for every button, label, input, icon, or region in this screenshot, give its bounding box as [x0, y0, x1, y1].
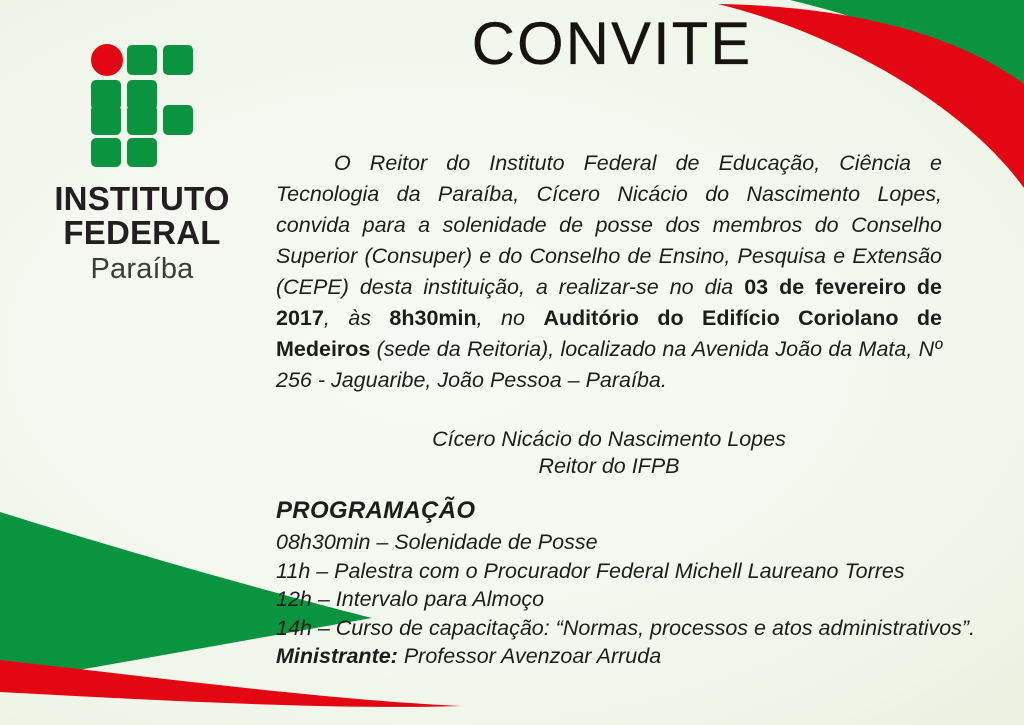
signature-name: Cícero Nicácio do Nascimento Lopes	[276, 426, 942, 453]
logo-red-circle-icon	[91, 44, 123, 76]
programme-item: 14h – Curso de capacitação: “Normas, pro…	[276, 614, 966, 643]
ifpb-logo: INSTITUTO FEDERAL Paraíba	[26, 44, 258, 286]
ifpb-logo-mark-icon	[90, 44, 194, 168]
logo-wordmark: INSTITUTO FEDERAL	[26, 182, 258, 249]
invitation-paragraph: O Reitor do Instituto Federal de Educaçã…	[276, 148, 942, 396]
programme-list: 08h30min – Solenidade de Posse11h – Pale…	[276, 528, 966, 671]
logo-word-federal: FEDERAL	[26, 216, 258, 250]
logo-subtitle-paraiba: Paraíba	[26, 253, 258, 286]
invitation-body: O Reitor do Instituto Federal de Educaçã…	[276, 148, 942, 480]
programme-item: 12h – Intervalo para Almoço	[276, 585, 966, 614]
signature-role: Reitor do IFPB	[276, 453, 942, 480]
logo-word-instituto: INSTITUTO	[26, 182, 258, 216]
invitation-page: INSTITUTO FEDERAL Paraíba CONVITE O Reit…	[0, 0, 1024, 725]
page-title: CONVITE	[262, 14, 962, 74]
programme-section: PROGRAMAÇÃO 08h30min – Solenidade de Pos…	[276, 496, 966, 671]
programme-item: 08h30min – Solenidade de Posse	[276, 528, 966, 557]
programme-item: 11h – Palestra com o Procurador Federal …	[276, 557, 966, 586]
signature-block: Cícero Nicácio do Nascimento Lopes Reito…	[276, 426, 942, 480]
programme-item: Ministrante: Professor Avenzoar Arruda	[276, 642, 966, 671]
programme-heading: PROGRAMAÇÃO	[276, 496, 966, 526]
